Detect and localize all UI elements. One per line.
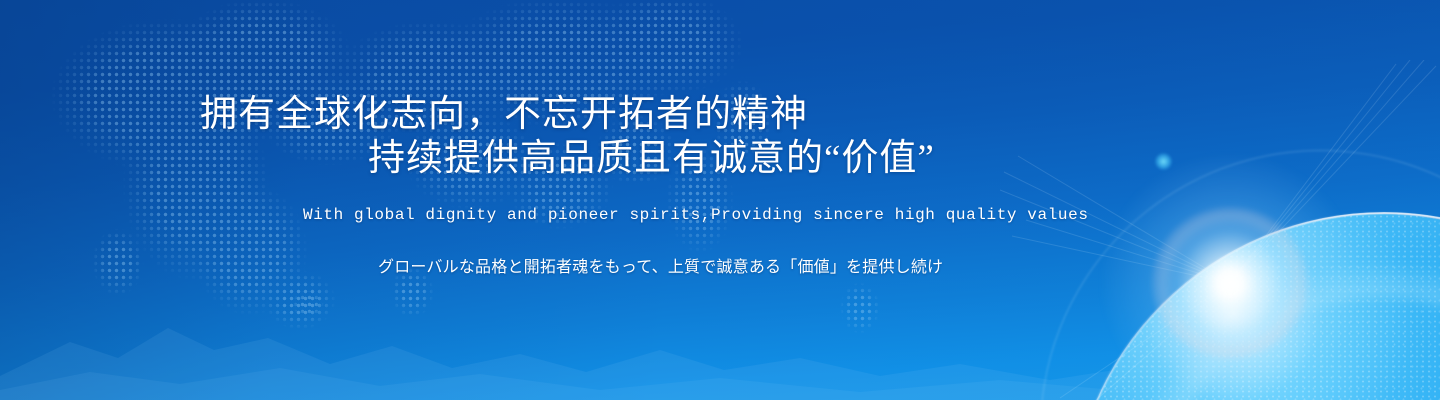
earth-globe [980, 0, 1440, 400]
flare-rays-icon [1000, 60, 1440, 400]
globe-atmosphere-glow [1050, 192, 1440, 400]
flare-halo-ring [1152, 208, 1308, 358]
mountain-silhouette-icon [0, 280, 1440, 400]
globe-limb-highlight [1070, 212, 1440, 400]
subtitle-japanese: グローバルな品格と開拓者魂をもって、上質で誠意ある「価値」を提供し続け [378, 259, 943, 275]
headline-line-1: 拥有全球化志向，不忘开拓者的精神 [200, 96, 808, 133]
globe-sphere [1072, 214, 1440, 400]
globe-surface-texture [1072, 214, 1440, 400]
banner-copy: 拥有全球化志向，不忘开拓者的精神 持续提供高品质且有诚意的“价值” With g… [0, 0, 1060, 400]
globe-ring-arc [988, 98, 1440, 400]
lens-flare-orb-icon [1155, 153, 1172, 170]
hero-banner: 拥有全球化志向，不忘开拓者的精神 持续提供高品质且有诚意的“价值” With g… [0, 0, 1440, 400]
dotted-world-map-scatter [250, 280, 1430, 390]
headline-line-2: 持续提供高品质且有诚意的“价值” [368, 140, 935, 177]
subtitle-english: With global dignity and pioneer spirits,… [303, 207, 1089, 223]
background-sheen [0, 0, 1440, 400]
